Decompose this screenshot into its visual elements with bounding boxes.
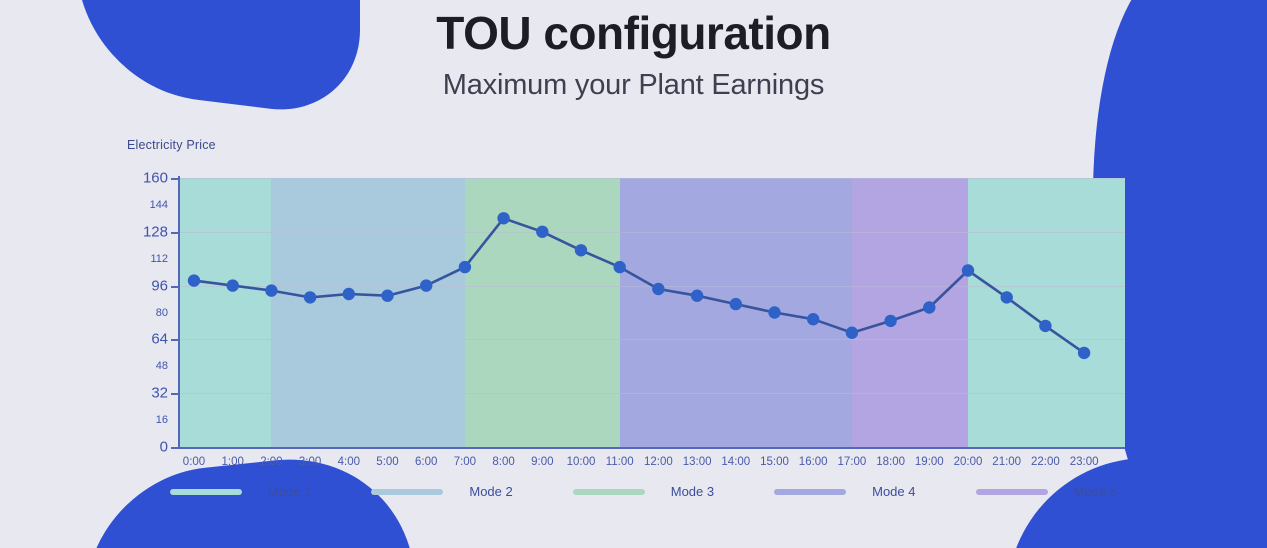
legend-item[interactable]: Mode 1 — [170, 484, 371, 499]
y-axis-tick-mark — [171, 447, 180, 449]
data-point-marker[interactable] — [227, 279, 239, 291]
y-axis-title: Electricity Price — [127, 138, 216, 152]
y-axis-tick-label: 112 — [150, 253, 168, 265]
legend-item[interactable]: Mode 2 — [371, 484, 572, 499]
x-axis-tick-label: 8:00 — [492, 456, 514, 468]
legend-item[interactable]: Mode 4 — [774, 484, 975, 499]
data-point-marker[interactable] — [304, 291, 316, 303]
x-axis-tick-label: 13:00 — [683, 456, 712, 468]
y-axis-tick-label: 144 — [150, 199, 168, 211]
data-point-marker[interactable] — [962, 264, 974, 276]
y-axis-tick-label: 16 — [156, 414, 168, 426]
x-axis-tick-label: 6:00 — [415, 456, 437, 468]
x-axis-tick-label: 10:00 — [567, 456, 596, 468]
data-point-marker[interactable] — [884, 315, 896, 327]
x-axis-tick-label: 14:00 — [721, 456, 750, 468]
data-point-marker[interactable] — [381, 290, 393, 302]
data-point-marker[interactable] — [768, 306, 780, 318]
y-axis-tick-label: 128 — [143, 223, 168, 240]
legend-label: Mode 4 — [872, 484, 915, 499]
x-axis-tick-label: 23:00 — [1070, 456, 1099, 468]
x-axis-tick-label: 19:00 — [915, 456, 944, 468]
price-line-series — [178, 178, 1125, 447]
data-point-marker[interactable] — [1039, 320, 1051, 332]
data-point-marker[interactable] — [536, 226, 548, 238]
x-axis-line — [178, 447, 1125, 449]
x-axis-tick-label: 15:00 — [760, 456, 789, 468]
x-axis-tick-label: 3:00 — [299, 456, 321, 468]
y-axis-tick-label: 48 — [156, 360, 168, 372]
x-axis-tick-label: 7:00 — [454, 456, 476, 468]
x-axis-tick-label: 17:00 — [838, 456, 867, 468]
y-axis-tick-label: 32 — [151, 385, 168, 402]
y-axis-tick-label: 0 — [160, 439, 168, 456]
data-point-marker[interactable] — [420, 279, 432, 291]
y-axis-tick-mark — [171, 286, 180, 288]
x-axis-tick-label: 20:00 — [954, 456, 983, 468]
plot-area — [178, 178, 1125, 447]
x-axis-tick-label: 18:00 — [876, 456, 905, 468]
legend-swatch — [976, 489, 1048, 495]
data-point-marker[interactable] — [343, 288, 355, 300]
y-axis-tick-mark — [171, 178, 180, 180]
x-axis-tick-label: 4:00 — [338, 456, 360, 468]
data-point-marker[interactable] — [459, 261, 471, 273]
data-point-marker[interactable] — [923, 301, 935, 313]
x-axis-tick-label: 1:00 — [221, 456, 243, 468]
x-axis-tick-label: 2:00 — [260, 456, 282, 468]
y-axis-tick-mark — [171, 232, 180, 234]
y-axis-tick-mark — [171, 393, 180, 395]
legend-item[interactable]: Mode 3 — [573, 484, 774, 499]
page-subtitle: Maximum your Plant Earnings — [0, 69, 1267, 102]
y-axis-tick-label: 80 — [156, 307, 168, 319]
data-point-marker[interactable] — [846, 327, 858, 339]
data-point-marker[interactable] — [652, 283, 664, 295]
legend-label: Mode 1 — [268, 484, 311, 499]
legend-swatch — [170, 489, 242, 495]
header: TOU configuration Maximum your Plant Ear… — [0, 8, 1267, 102]
chart-legend: Mode 1Mode 2Mode 3Mode 4Mode 5 — [170, 484, 1030, 499]
data-point-marker[interactable] — [1078, 347, 1090, 359]
slide-root: TOU configuration Maximum your Plant Ear… — [0, 0, 1267, 548]
y-axis-tick-label: 64 — [151, 331, 168, 348]
tou-price-chart: Electricity Price 0163248648096112128144… — [0, 130, 1267, 520]
y-axis-line — [178, 176, 180, 449]
x-axis-tick-labels: 0:001:002:003:004:005:006:007:008:009:00… — [178, 456, 1125, 474]
data-point-marker[interactable] — [614, 261, 626, 273]
page-title: TOU configuration — [0, 8, 1267, 59]
y-axis-tick-label: 96 — [151, 277, 168, 294]
data-point-marker[interactable] — [1001, 291, 1013, 303]
legend-label: Mode 5 — [1074, 484, 1117, 499]
legend-swatch — [371, 489, 443, 495]
legend-label: Mode 3 — [671, 484, 714, 499]
data-point-marker[interactable] — [575, 244, 587, 256]
x-axis-tick-label: 12:00 — [644, 456, 673, 468]
x-axis-tick-label: 0:00 — [183, 456, 205, 468]
data-point-marker[interactable] — [691, 290, 703, 302]
legend-item[interactable]: Mode 5 — [976, 484, 1177, 499]
x-axis-tick-label: 9:00 — [531, 456, 553, 468]
legend-swatch — [774, 489, 846, 495]
y-axis-tick-label: 160 — [143, 170, 168, 187]
data-point-marker[interactable] — [497, 212, 509, 224]
data-point-marker[interactable] — [730, 298, 742, 310]
x-axis-tick-label: 5:00 — [376, 456, 398, 468]
x-axis-tick-label: 11:00 — [606, 456, 634, 468]
data-point-marker[interactable] — [265, 284, 277, 296]
y-axis-tick-labels: 0163248648096112128144160 — [120, 178, 168, 447]
legend-label: Mode 2 — [469, 484, 512, 499]
price-polyline — [194, 218, 1084, 353]
legend-swatch — [573, 489, 645, 495]
data-point-marker[interactable] — [188, 274, 200, 286]
data-point-marker[interactable] — [807, 313, 819, 325]
x-axis-tick-label: 22:00 — [1031, 456, 1060, 468]
y-axis-tick-mark — [171, 339, 180, 341]
x-axis-tick-label: 16:00 — [799, 456, 828, 468]
x-axis-tick-label: 21:00 — [992, 456, 1021, 468]
